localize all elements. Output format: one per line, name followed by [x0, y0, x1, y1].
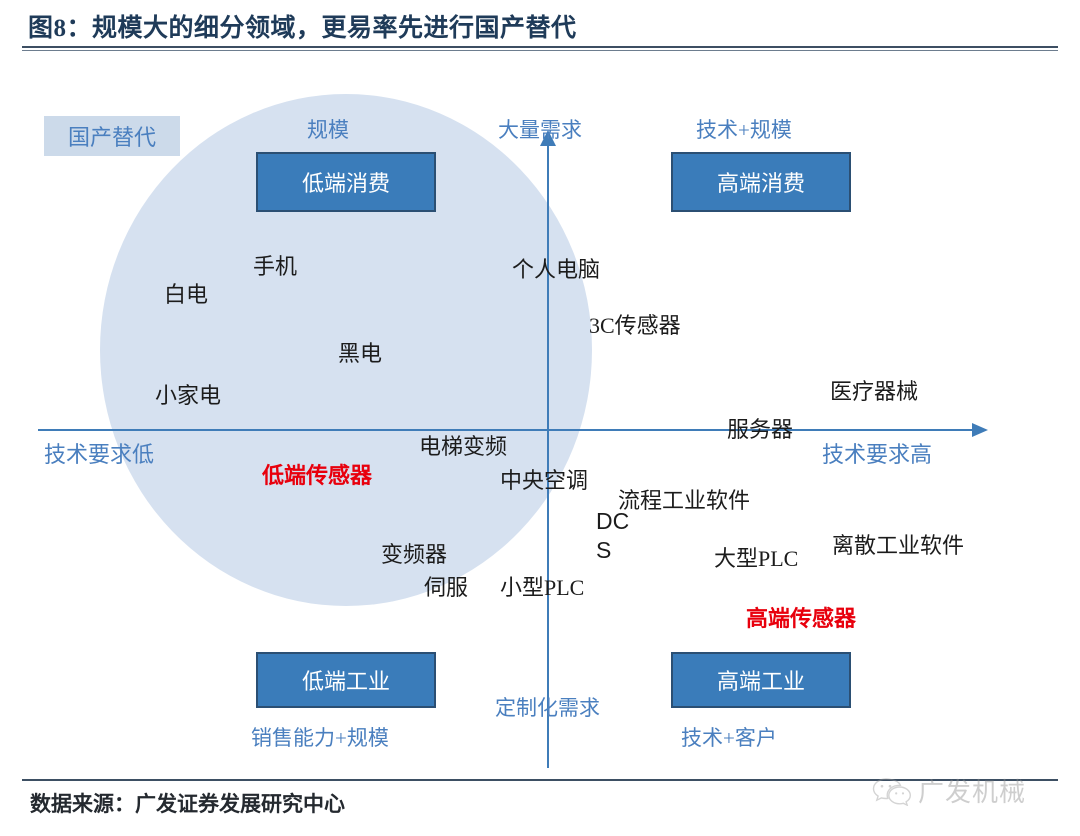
item-label-high-end-sensor: 高端传感器 [746, 606, 856, 631]
box-high-consumer[interactable]: 高端消费 [671, 152, 851, 212]
box-low-industrial[interactable]: 低端工业 [256, 652, 436, 708]
axis-label-y-top: 大量需求 [498, 118, 582, 142]
axis-label-y-bottom: 定制化需求 [495, 696, 600, 720]
caption-high-industrial: 技术+客户 [681, 726, 777, 750]
item-label-shouji: 手机 [253, 254, 297, 279]
footer-divider [22, 779, 1058, 781]
header-divider [22, 46, 1058, 48]
item-label-lisan-software: 离散工业软件 [832, 533, 964, 558]
caption-low-consumer: 规模 [307, 118, 349, 142]
axis-label-x-left: 技术要求低 [44, 442, 154, 467]
item-label-yiliaoqixie: 医疗器械 [830, 379, 918, 404]
x-axis-line [38, 429, 978, 431]
item-label-bianpinqi: 变频器 [381, 542, 447, 567]
source-note: 数据来源：广发证券发展研究中心 [30, 788, 345, 818]
header-divider-thin [22, 50, 1058, 51]
axis-label-x-right: 技术要求高 [822, 442, 932, 467]
item-label-dcs-line2: S [596, 537, 611, 563]
watermark: 广发机械 [872, 772, 1026, 809]
y-axis-line [547, 142, 549, 768]
caption-low-industrial: 销售能力+规模 [251, 726, 389, 750]
watermark-text: 广发机械 [918, 772, 1026, 809]
item-label-xiaojiadian: 小家电 [155, 383, 221, 408]
item-label-large-plc: 大型PLC [714, 546, 798, 571]
page-title: 图8：规模大的细分领域，更易率先进行国产替代 [28, 8, 577, 44]
item-label-low-end-sensor: 低端传感器 [262, 463, 372, 488]
item-label-dianti-bianpin: 电梯变频 [419, 434, 507, 459]
box-low-consumer[interactable]: 低端消费 [256, 152, 436, 212]
item-label-fuwuqi: 服务器 [727, 417, 793, 442]
item-label-dcs-line1: DC [596, 508, 629, 534]
caption-high-consumer: 技术+规模 [696, 118, 792, 142]
chart-canvas: 国产替代 规模 大量需求 技术+规模 低端消费 高端消费 手机 白电 黑电 小家… [0, 56, 1080, 768]
item-label-3c-sensor: 3C传感器 [589, 313, 681, 338]
item-label-small-plc: 小型PLC [500, 575, 584, 600]
item-label-liucheng-software: 流程工业软件 [618, 488, 750, 513]
domestic-substitution-tag: 国产替代 [44, 116, 180, 156]
box-high-industrial[interactable]: 高端工业 [671, 652, 851, 708]
item-label-gerendiannao: 个人电脑 [512, 257, 600, 282]
item-label-heidian: 黑电 [338, 341, 382, 366]
item-label-baidian: 白电 [164, 282, 208, 307]
x-axis-arrow-icon [972, 423, 988, 437]
item-label-sifu: 伺服 [424, 575, 468, 600]
item-label-zhongyangkongtiao: 中央空调 [500, 468, 588, 493]
